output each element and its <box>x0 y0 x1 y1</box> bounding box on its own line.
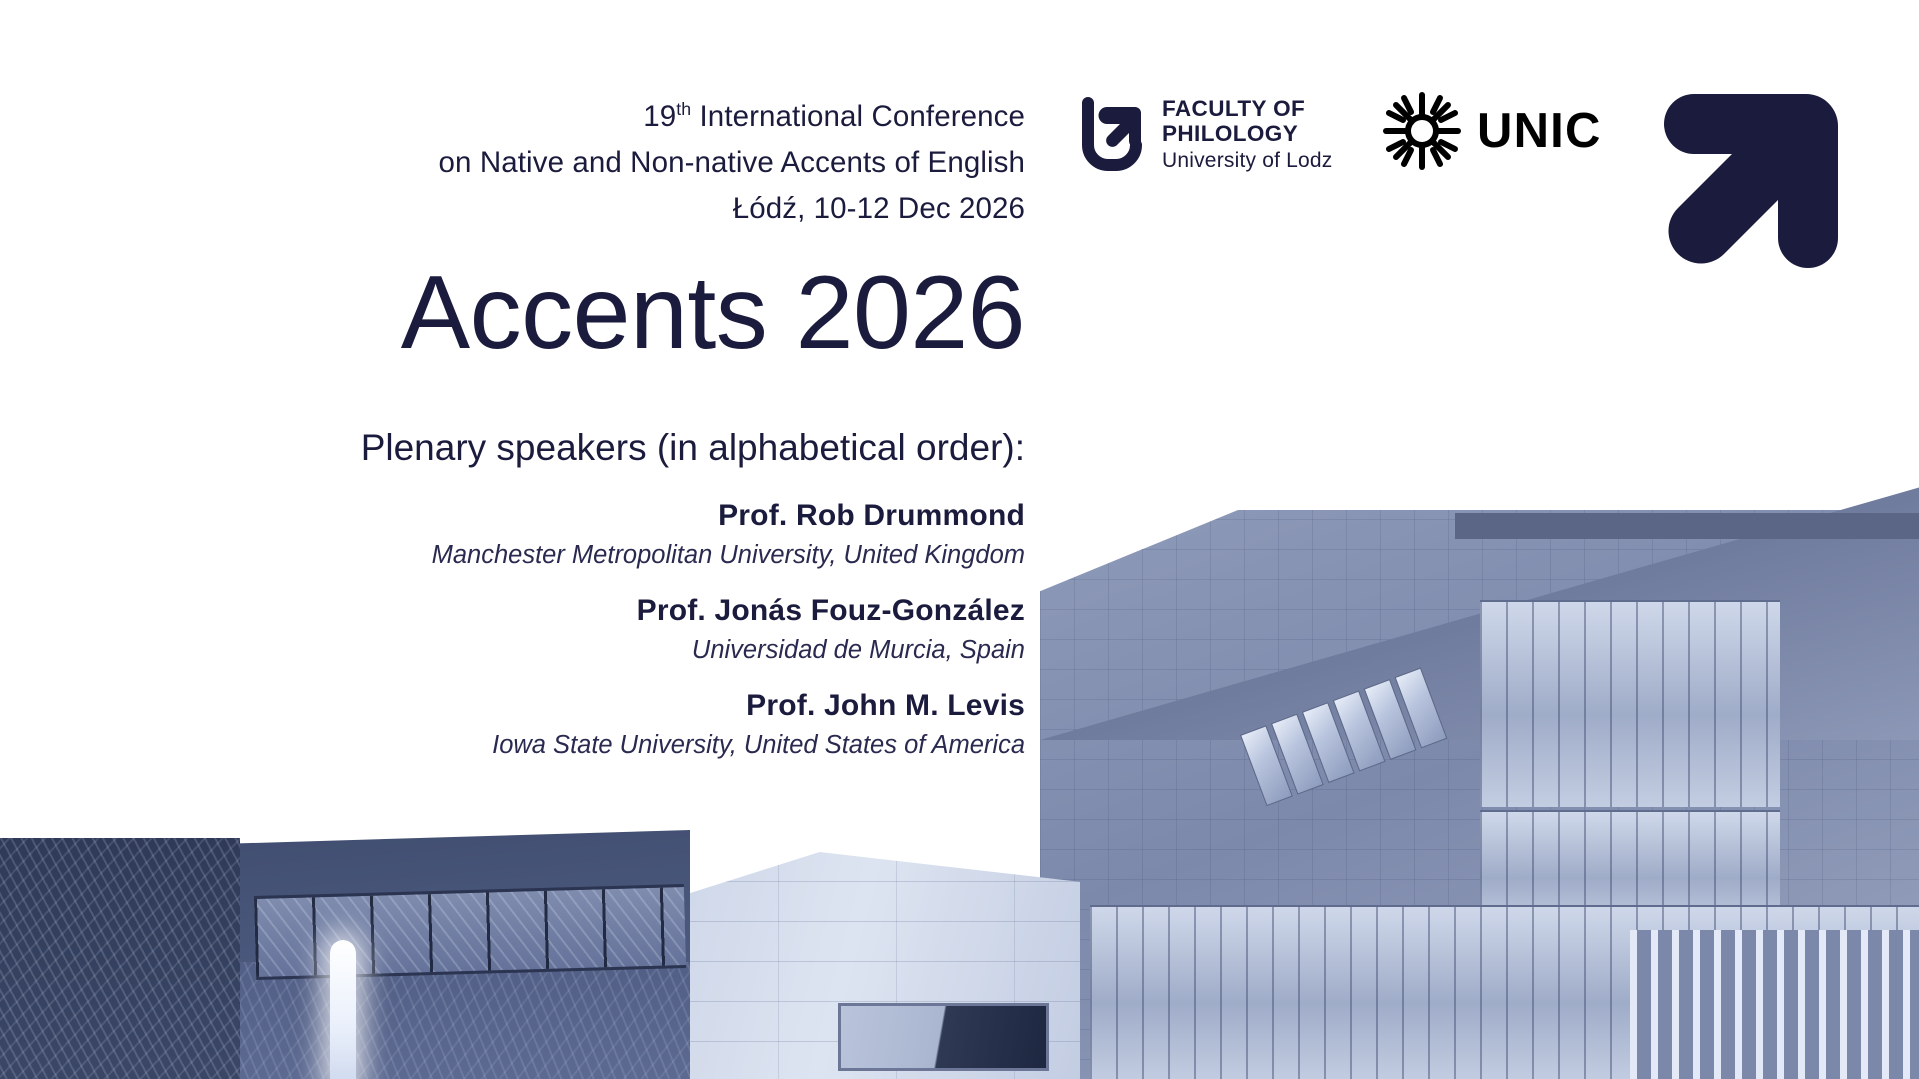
conference-header-line1: 19th International Conference <box>180 94 1025 140</box>
speaker-name: Prof. John M. Levis <box>180 685 1025 727</box>
speaker-name: Prof. Rob Drummond <box>180 495 1025 537</box>
speaker-entry: Prof. Rob Drummond Manchester Metropolit… <box>180 495 1025 573</box>
conference-header-line2: on Native and Non-native Accents of Engl… <box>180 140 1025 186</box>
conference-header-line3: Łódź, 10-12 Dec 2026 <box>180 186 1025 232</box>
unic-wordmark: UNIC <box>1477 106 1602 156</box>
conference-header: 19th International Conference on Native … <box>180 94 1025 232</box>
plenary-speakers-heading: Plenary speakers (in alphabetical order)… <box>180 424 1025 472</box>
faculty-line1: FACULTY OF <box>1162 96 1333 121</box>
speaker-entry: Prof. Jonás Fouz-González Universidad de… <box>180 590 1025 668</box>
faculty-philology-mark-icon <box>1082 97 1148 175</box>
faculty-line2: PHILOLOGY <box>1162 121 1333 146</box>
conference-edition-ordinal: th <box>676 99 691 119</box>
unic-logo: UNIC <box>1383 92 1602 170</box>
arrow-logo-icon <box>1648 88 1844 274</box>
speaker-affiliation: Universidad de Murcia, Spain <box>180 632 1025 668</box>
unic-starburst-icon <box>1383 92 1461 170</box>
speaker-name: Prof. Jonás Fouz-González <box>180 590 1025 632</box>
poster-content: 19th International Conference on Native … <box>0 0 1919 1079</box>
conference-edition-number: 19 <box>643 100 676 133</box>
poster-title: Accents 2026 <box>180 258 1025 368</box>
conference-header-line1-rest: International Conference <box>691 100 1025 133</box>
conference-poster: 19th International Conference on Native … <box>0 0 1919 1079</box>
faculty-line3: University of Lodz <box>1162 146 1333 176</box>
speaker-entry: Prof. John M. Levis Iowa State Universit… <box>180 685 1025 763</box>
faculty-philology-wordmark: FACULTY OF PHILOLOGY University of Lodz <box>1162 96 1333 176</box>
plenary-speakers-list: Prof. Rob Drummond Manchester Metropolit… <box>180 495 1025 780</box>
speaker-affiliation: Iowa State University, United States of … <box>180 727 1025 763</box>
speaker-affiliation: Manchester Metropolitan University, Unit… <box>180 537 1025 573</box>
faculty-of-philology-logo: FACULTY OF PHILOLOGY University of Lodz <box>1082 96 1333 176</box>
